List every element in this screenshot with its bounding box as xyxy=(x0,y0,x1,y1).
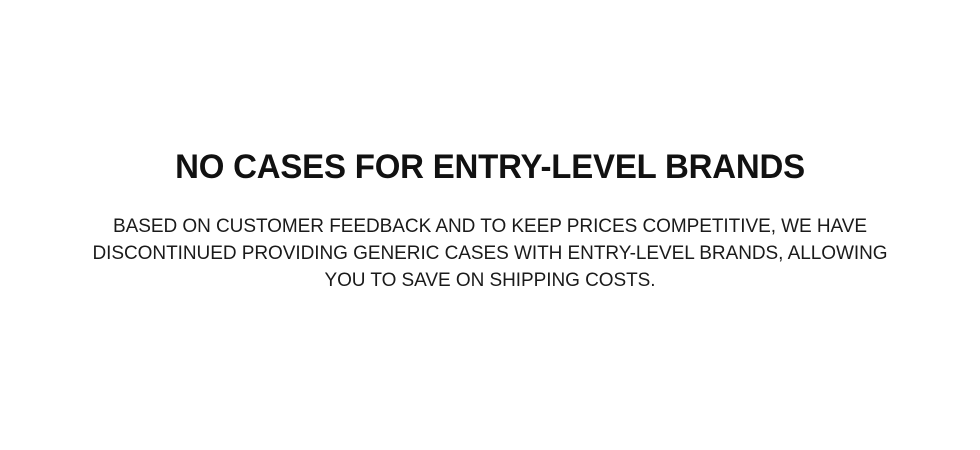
notice-body-line-1: BASED ON CUSTOMER FEEDBACK AND TO KEEP P… xyxy=(90,213,890,240)
notice-body-text: BASED ON CUSTOMER FEEDBACK AND TO KEEP P… xyxy=(90,186,890,294)
promotional-notice-banner: NO CASES FOR ENTRY-LEVEL BRANDS BASED ON… xyxy=(0,0,980,450)
notice-body-line-2: DISCONTINUED PROVIDING GENERIC CASES WIT… xyxy=(90,240,890,267)
notice-heading: NO CASES FOR ENTRY-LEVEL BRANDS xyxy=(54,0,927,186)
notice-content: NO CASES FOR ENTRY-LEVEL BRANDS BASED ON… xyxy=(40,0,940,294)
notice-body-line-3: YOU TO SAVE ON SHIPPING COSTS. xyxy=(90,267,890,294)
